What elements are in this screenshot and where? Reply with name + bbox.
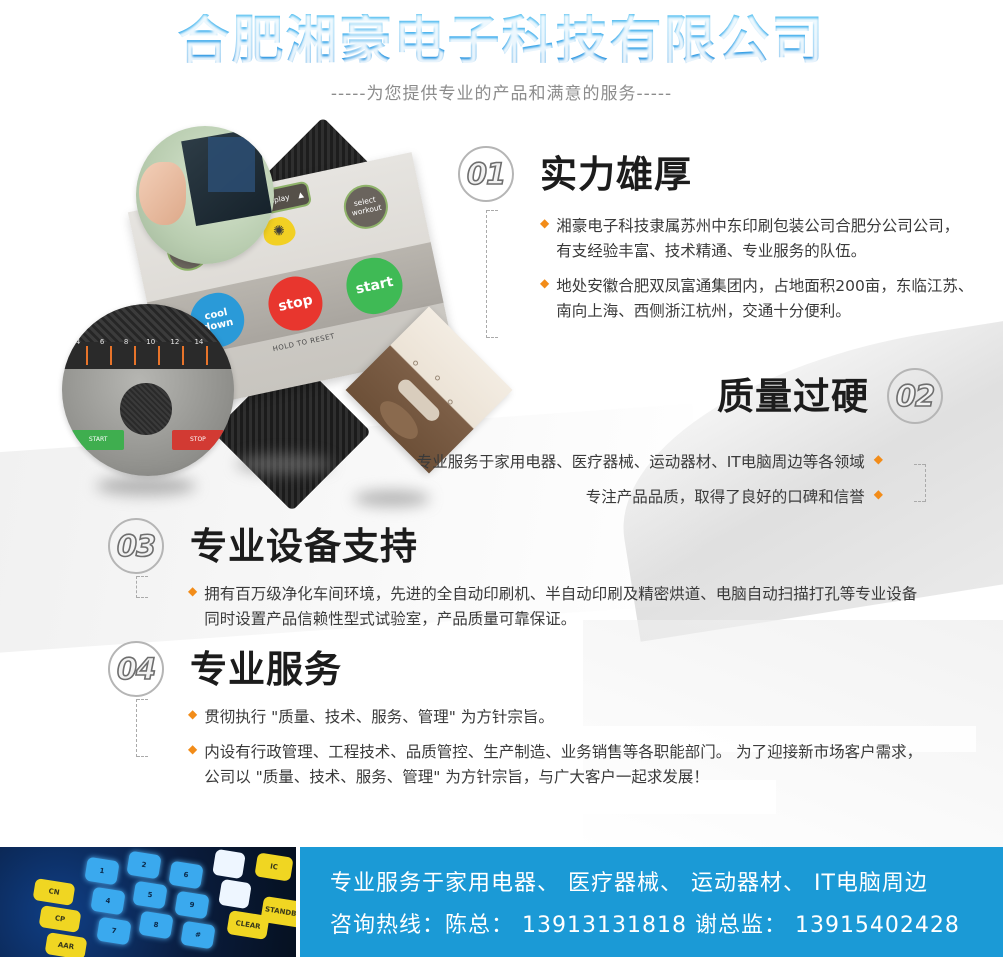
company-title: 合肥湘豪电子科技有限公司 [0, 14, 1003, 69]
footer-hotline-line: 咨询热线：陈总： 13913131818 谢总监： 13915402428 [330, 907, 960, 939]
rotary-knob [120, 383, 172, 435]
keypad-key-cp: CP [39, 905, 82, 933]
bullet-text: 专业服务于家用电器、医疗器械、运动器材、IT电脑周边等各领域 [417, 450, 865, 475]
list-item: ◆ 地处安徽合肥双凤富通集团内，占地面积200亩，东临江苏、 南向上海、西侧浙江… [540, 274, 1003, 324]
keypad-key-blank-b [218, 879, 252, 909]
keypad-key-9: 9 [174, 891, 209, 920]
section-01: 01 实力雄厚 ◆ 湘豪电子科技隶属苏州中东印刷包装公司合肥分公司公司， 有支经… [458, 146, 1003, 334]
section-02-header: 质量过硬 02 [343, 368, 1003, 424]
bullet-text: 专注产品品质，取得了良好的口碑和信誉 [586, 485, 865, 510]
diamond-bullet-icon: ◆ [874, 450, 883, 469]
scale-num-3: 10 [146, 338, 155, 346]
section-03-title: 专业设备支持 [190, 528, 418, 565]
bullet-text: 拥有百万级净化车间环境，先进的全自动印刷机、半自动印刷及精密烘道、电脑自动扫描打… [204, 582, 917, 632]
scale-num-5: 14 [194, 338, 203, 346]
dial-stop-label: STOP [172, 430, 224, 451]
diamond-bullet-icon: ◆ [188, 705, 197, 724]
footer-banner: CN CP AAR 1 2 6 4 5 9 7 8 # IC CLEAR STA… [0, 847, 1003, 957]
footer-services-line: 专业服务于家用电器、 医疗器械、 运动器材、 IT电脑周边 [330, 865, 960, 897]
keypad-key-7: 7 [96, 917, 131, 946]
section-01-header: 01 实力雄厚 [458, 146, 1003, 202]
bullet-text: 内设有行政管理、工程技术、品质管控、生产制造、业务销售等各职能部门。 为了迎接新… [204, 740, 922, 790]
section-03-connector [136, 576, 137, 598]
keypad-key-4: 4 [90, 887, 125, 916]
list-item: ◆ 内设有行政管理、工程技术、品质管控、生产制造、业务销售等各职能部门。 为了迎… [188, 740, 998, 790]
finger [139, 162, 186, 225]
blurred-watermark-b [236, 454, 332, 474]
page-header: 合肥湘豪电子科技有限公司 -----为您提供专业的产品和满意的服务----- [0, 0, 1003, 120]
keypad-key-5: 5 [132, 881, 167, 910]
promo-page: 合肥湘豪电子科技有限公司 -----为您提供专业的产品和满意的服务----- e… [0, 0, 1003, 957]
list-item: ◆ 湘豪电子科技隶属苏州中东印刷包装公司合肥分公司公司， 有支经验丰富、技术精通… [540, 214, 1003, 264]
bullet-text: 湘豪电子科技隶属苏州中东印刷包装公司合肥分公司公司， 有支经验丰富、技术精通、专… [556, 214, 959, 264]
section-03: 03 专业设备支持 ◆ 拥有百万级净化车间环境，先进的全自动印刷机、半自动印刷及… [108, 518, 998, 642]
diamond-bullet-icon: ◆ [188, 582, 197, 601]
scale-num-4: 12 [170, 338, 179, 346]
dial-control-photo: 4 6 8 10 12 14 START STOP [62, 304, 234, 476]
scale-num-2: 8 [124, 338, 128, 346]
keypad-key-6: 6 [168, 861, 203, 890]
section-03-header: 03 专业设备支持 [108, 518, 998, 574]
section-02-connector [925, 464, 926, 502]
section-02-bullets: ◆ 专业服务于家用电器、医疗器械、运动器材、IT电脑周边等各领域 ◆ 专注产品品… [343, 450, 1003, 510]
diamond-bullet-icon: ◆ [188, 740, 197, 759]
bullet-text: 贯彻执行 "质量、技术、服务、管理" 为方针宗旨。 [204, 705, 554, 730]
diamond-bullet-icon: ◆ [540, 274, 549, 293]
membrane-peel-photo [136, 126, 274, 264]
list-item: ◆ 专注产品品质，取得了良好的口碑和信誉 [343, 485, 883, 510]
keypad-key-blank-a [212, 849, 246, 879]
section-03-badge: 03 [108, 518, 164, 574]
section-04-badge: 04 [108, 641, 164, 697]
list-item: ◆ 专业服务于家用电器、医疗器械、运动器材、IT电脑周边等各领域 [343, 450, 883, 475]
section-02-title: 质量过硬 [717, 378, 869, 415]
company-slogan: -----为您提供专业的产品和满意的服务----- [0, 79, 1003, 104]
film-layer-blue [208, 137, 255, 192]
section-04-title: 专业服务 [190, 651, 342, 688]
section-03-bullets: ◆ 拥有百万级净化车间环境，先进的全自动印刷机、半自动印刷及精密烘道、电脑自动扫… [188, 582, 998, 632]
keypad-key-hash: # [180, 921, 215, 950]
keypad-key-ic: IC [254, 852, 293, 881]
scale-num-1: 6 [100, 338, 104, 346]
keypad-key-aar: AAR [45, 932, 88, 957]
section-04-bullets: ◆ 贯彻执行 "质量、技术、服务、管理" 为方针宗旨。 ◆ 内设有行政管理、工程… [188, 705, 998, 790]
section-02-badge: 02 [887, 368, 943, 424]
section-02: 质量过硬 02 ◆ 专业服务于家用电器、医疗器械、运动器材、IT电脑周边等各领域… [343, 368, 1003, 520]
select-workout-key: select workout [340, 181, 392, 233]
section-01-badge: 01 [458, 146, 514, 202]
bullet-text: 地处安徽合肥双凤富通集团内，占地面积200亩，东临江苏、 南向上海、西侧浙江杭州… [556, 274, 973, 324]
keypad-key-2: 2 [126, 851, 161, 880]
section-04: 04 专业服务 ◆ 贯彻执行 "质量、技术、服务、管理" 为方针宗旨。 ◆ 内设… [108, 641, 998, 800]
keypad-key-8: 8 [138, 911, 173, 940]
diamond-bullet-icon: ◆ [874, 485, 883, 504]
list-item: ◆ 拥有百万级净化车间环境，先进的全自动印刷机、半自动印刷及精密烘道、电脑自动扫… [188, 582, 998, 632]
keypad-key-cn: CN [33, 878, 76, 906]
footer-keypad-photo: CN CP AAR 1 2 6 4 5 9 7 8 # IC CLEAR STA… [0, 847, 300, 957]
section-04-header: 04 专业服务 [108, 641, 998, 697]
section-04-connector [136, 699, 137, 757]
blurred-watermark-a [96, 476, 196, 496]
section-01-bullets: ◆ 湘豪电子科技隶属苏州中东印刷包装公司合肥分公司公司， 有支经验丰富、技术精通… [540, 214, 1003, 324]
footer-text-block: 专业服务于家用电器、 医疗器械、 运动器材、 IT电脑周边 咨询热线：陈总： 1… [330, 865, 960, 939]
up-arrow-icon: ▲ [297, 190, 305, 200]
scale-num-0: 4 [76, 338, 80, 346]
section-01-title: 实力雄厚 [540, 156, 692, 193]
dial-start-label: START [72, 430, 124, 451]
carbon-arc [62, 304, 234, 342]
section-01-connector [486, 210, 487, 338]
list-item: ◆ 贯彻执行 "质量、技术、服务、管理" 为方针宗旨。 [188, 705, 998, 730]
keypad-key-1: 1 [84, 857, 119, 886]
diamond-bullet-icon: ◆ [540, 214, 549, 233]
